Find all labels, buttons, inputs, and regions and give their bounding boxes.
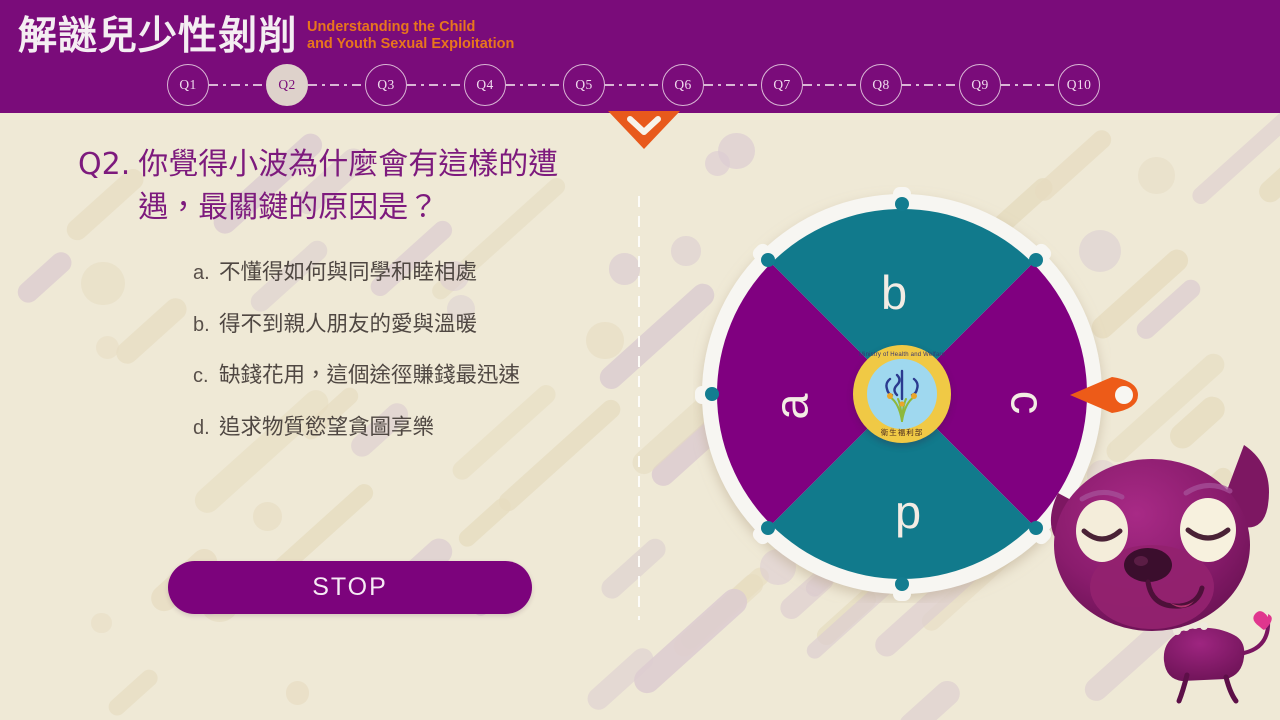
- active-step-marker-icon: [608, 111, 680, 149]
- answer-option-text: 不懂得如何與同學和睦相處: [219, 259, 477, 286]
- answer-option-text: 缺錢花用，這個途徑賺錢最迅速: [219, 362, 520, 389]
- ministry-logo-text-zh: 衛生福利部: [853, 427, 951, 438]
- stepper-item-q4[interactable]: Q4: [464, 64, 506, 106]
- stepper-connector: [902, 84, 959, 86]
- stepper-item-q8[interactable]: Q8: [860, 64, 902, 106]
- background-dash: [894, 676, 965, 720]
- answer-option[interactable]: b.得不到親人朋友的愛與溫暖: [193, 311, 623, 338]
- stepper-connector: [506, 84, 563, 86]
- stepper-connector: [704, 84, 761, 86]
- answer-option-key: a.: [193, 262, 219, 285]
- stepper-items: Q1Q2Q3Q4Q5Q6Q7Q8Q9Q10: [167, 64, 1100, 106]
- stop-button[interactable]: STOP: [168, 561, 532, 614]
- ministry-logo: Ministry of Health and Welfare 衛生福利部: [853, 345, 951, 443]
- answer-option-text: 追求物質慾望貪圖享樂: [219, 414, 434, 441]
- wheel-letter-c: c: [1004, 391, 1051, 415]
- answer-option[interactable]: a.不懂得如何與同學和睦相處: [193, 259, 623, 286]
- ministry-logo-text-en: Ministry of Health and Welfare: [853, 352, 951, 358]
- brand-subtitle-en: Understanding the Child and Youth Sexual…: [307, 19, 514, 53]
- stepper-item-q10[interactable]: Q10: [1058, 64, 1100, 106]
- stepper-connector: [1001, 84, 1058, 86]
- question-heading: Q2. 你覺得小波為什麼會有這樣的遭遇，最關鍵的原因是？: [78, 143, 618, 229]
- brand-subtitle-line2: and Youth Sexual Exploitation: [307, 36, 514, 53]
- question-number: Q2.: [78, 143, 138, 229]
- wheel-letter-d: d: [895, 496, 921, 543]
- answer-options-list: a.不懂得如何與同學和睦相處b.得不到親人朋友的愛與溫暖c.缺錢花用，這個途徑賺…: [193, 259, 623, 465]
- answer-option-key: c.: [193, 365, 219, 388]
- wheel-letter-b: b: [881, 269, 907, 316]
- question-panel: Q2. 你覺得小波為什麼會有這樣的遭遇，最關鍵的原因是？ a.不懂得如何與同學和…: [0, 113, 638, 720]
- question-text: 你覺得小波為什麼會有這樣的遭遇，最關鍵的原因是？: [138, 143, 588, 229]
- stepper-item-q5[interactable]: Q5: [563, 64, 605, 106]
- question-stepper: Q1Q2Q3Q4Q5Q6Q7Q8Q9Q10: [0, 62, 1280, 107]
- answer-option[interactable]: d.追求物質慾望貪圖享樂: [193, 414, 623, 441]
- mascot-dog: [1030, 435, 1280, 720]
- wheel-pointer-icon: [1068, 373, 1146, 417]
- panel-divider: [638, 196, 640, 620]
- stepper-connector: [407, 84, 464, 86]
- wheel-letter-a: a: [768, 393, 815, 419]
- app-header: 解謎兒少性剝削 Understanding the Child and Yout…: [0, 0, 1280, 113]
- stepper-item-q1[interactable]: Q1: [167, 64, 209, 106]
- stepper-connector: [605, 84, 662, 86]
- brand-title-zh: 解謎兒少性剝削: [18, 14, 298, 60]
- ministry-logo-inner: [867, 359, 937, 429]
- brand-subtitle-line1: Understanding the Child: [307, 19, 514, 36]
- stepper-item-q7[interactable]: Q7: [761, 64, 803, 106]
- brand-lockup: 解謎兒少性剝削 Understanding the Child and Yout…: [18, 14, 514, 60]
- answer-option[interactable]: c.缺錢花用，這個途徑賺錢最迅速: [193, 362, 623, 389]
- answer-option-text: 得不到親人朋友的愛與溫暖: [219, 311, 477, 338]
- stepper-item-q3[interactable]: Q3: [365, 64, 407, 106]
- stepper-item-q6[interactable]: Q6: [662, 64, 704, 106]
- answer-option-key: d.: [193, 417, 219, 440]
- background-dot: [705, 151, 730, 176]
- answer-option-key: b.: [193, 314, 219, 337]
- stepper-item-q2[interactable]: Q2: [266, 64, 308, 106]
- stepper-connector: [209, 84, 266, 86]
- stepper-item-q9[interactable]: Q9: [959, 64, 1001, 106]
- stepper-connector: [308, 84, 365, 86]
- stepper-connector: [803, 84, 860, 86]
